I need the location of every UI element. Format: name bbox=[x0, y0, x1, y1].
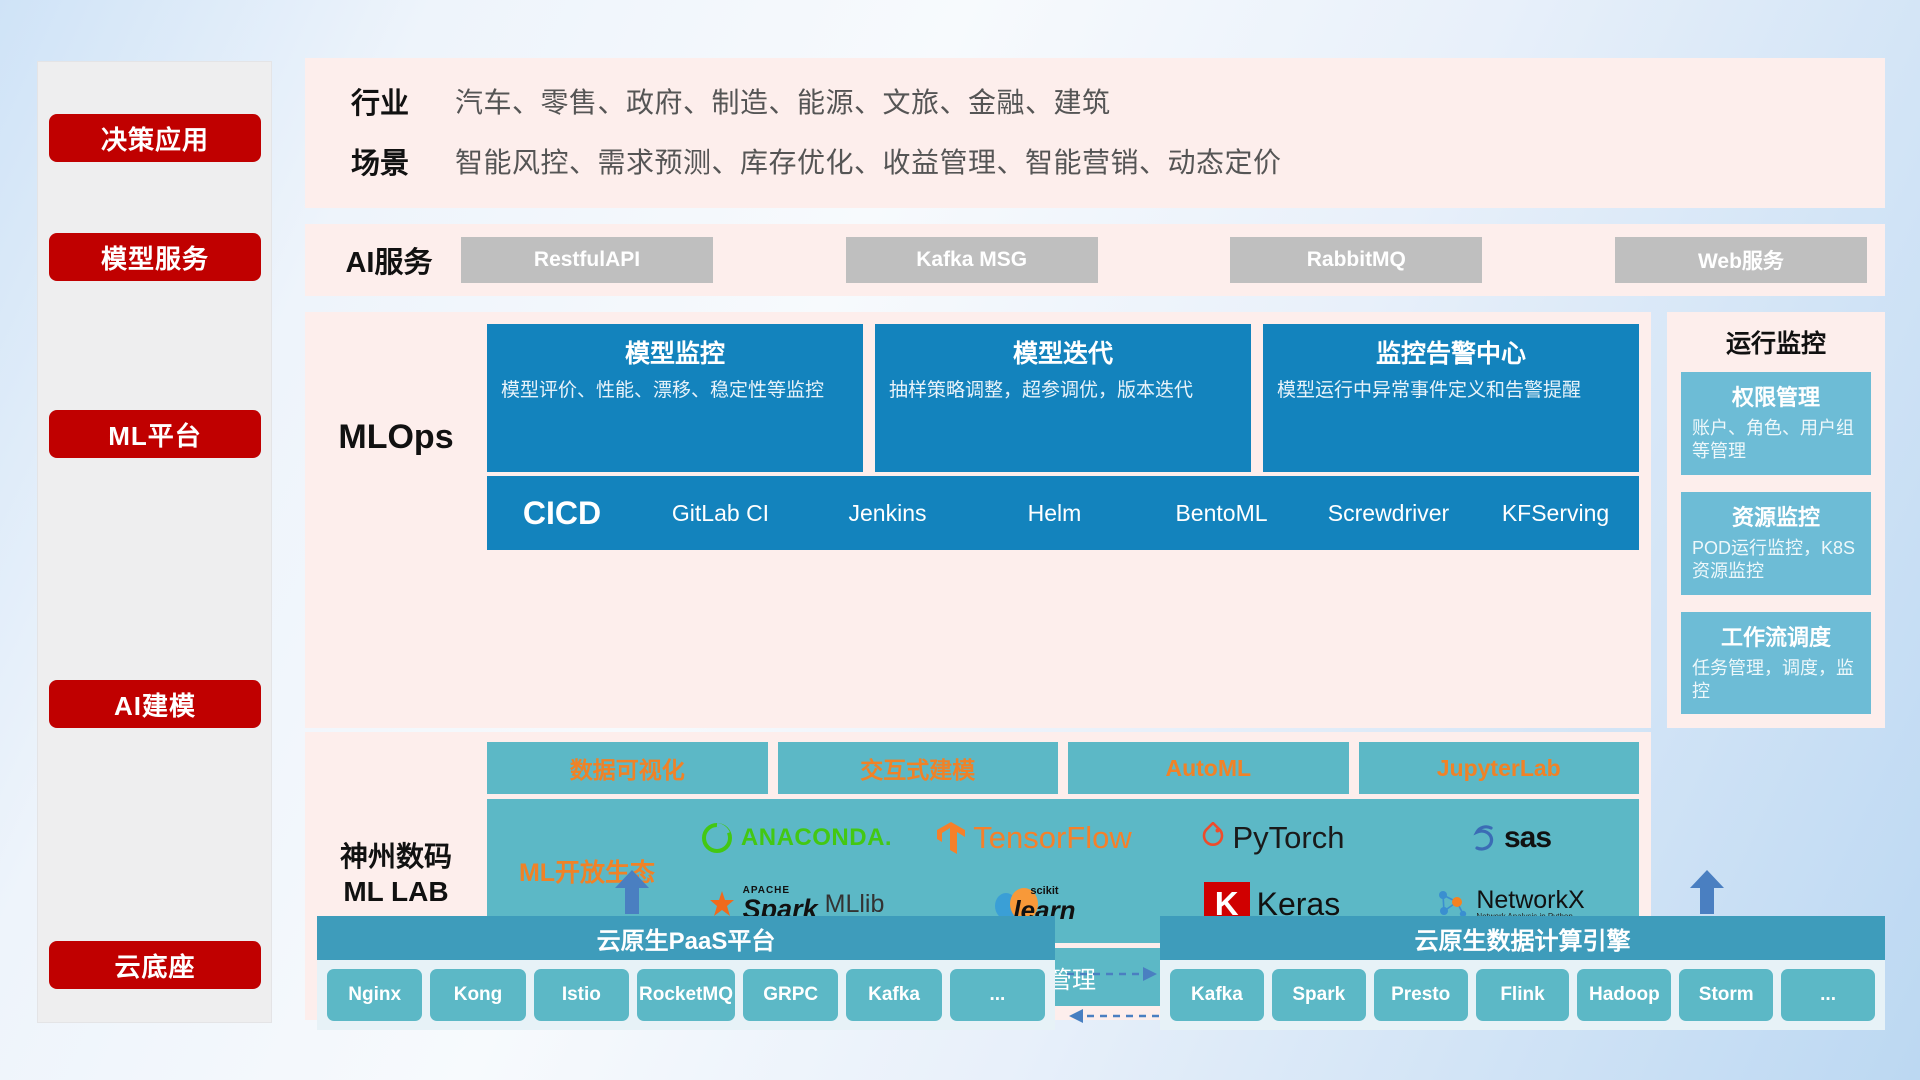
logo-tensorflow-label: TensorFlow bbox=[973, 820, 1132, 856]
monitoring-card-permissions[interactable]: 权限管理 账户、角色、用户组等管理 bbox=[1681, 372, 1871, 475]
mlops-label: MLOps bbox=[305, 324, 487, 550]
cicd-title: CICD bbox=[487, 495, 637, 532]
industry-scenario-panel: 行业 汽车、零售、政府、制造、能源、文旅、金融、建筑 场景 智能风控、需求预测、… bbox=[305, 58, 1885, 208]
mlops-card-desc: 模型评价、性能、漂移、稳定性等监控 bbox=[501, 378, 849, 404]
mlops-card-title: 模型迭代 bbox=[889, 334, 1237, 370]
logo-anaconda: ANACONDA. bbox=[677, 805, 915, 871]
cicd-item-helm[interactable]: Helm bbox=[971, 499, 1138, 528]
diagram-root: 决策应用 模型服务 ML平台 AI建模 云底座 行业 汽车、零售、政府、制造、能… bbox=[0, 0, 1920, 1080]
paas-chip-kong[interactable]: Kong bbox=[430, 969, 525, 1021]
ai-chip-rabbitmq[interactable]: RabbitMQ bbox=[1230, 237, 1482, 283]
ai-service-chip-list: RestfulAPI Kafka MSG RabbitMQ Web服务 bbox=[455, 237, 1867, 283]
lab-tool-data-visualization[interactable]: 数据可视化 bbox=[487, 742, 768, 794]
paas-platform-block: 云原生PaaS平台 Nginx Kong Istio RocketMQ GRPC… bbox=[317, 916, 1055, 1030]
mlops-panel: MLOps 模型监控 模型评价、性能、漂移、稳定性等监控 模型迭代 抽样策略调整… bbox=[305, 312, 1651, 728]
panel-divider-2 bbox=[305, 296, 1885, 312]
pytorch-icon bbox=[1200, 822, 1226, 854]
lab-tool-list: 数据可视化 交互式建模 AutoML JupyterLab bbox=[487, 742, 1639, 794]
logo-sas-label: sas bbox=[1504, 821, 1551, 855]
lab-tool-automl[interactable]: AutoML bbox=[1068, 742, 1349, 794]
ai-service-panel: AI服务 RestfulAPI Kafka MSG RabbitMQ Web服务 bbox=[305, 224, 1885, 296]
mlops-card-desc: 抽样策略调整，超参调优，版本迭代 bbox=[889, 378, 1237, 404]
paas-chip-list: Nginx Kong Istio RocketMQ GRPC Kafka ... bbox=[317, 960, 1055, 1030]
ai-service-label: AI服务 bbox=[323, 239, 455, 281]
monitoring-card-desc: POD运行监控，K8S资源监控 bbox=[1692, 537, 1860, 584]
data-chip-presto[interactable]: Presto bbox=[1374, 969, 1468, 1021]
logo-tensorflow: TensorFlow bbox=[915, 805, 1153, 871]
bidirectional-link-icon bbox=[1065, 962, 1161, 1028]
rail-item-ml-platform[interactable]: ML平台 bbox=[49, 410, 261, 458]
paas-platform-title: 云原生PaaS平台 bbox=[317, 916, 1055, 960]
monitoring-card-title: 工作流调度 bbox=[1692, 620, 1860, 652]
cicd-item-jenkins[interactable]: Jenkins bbox=[804, 499, 971, 528]
data-chip-hadoop[interactable]: Hadoop bbox=[1577, 969, 1671, 1021]
ai-chip-restfulapi[interactable]: RestfulAPI bbox=[461, 237, 713, 283]
data-chip-more[interactable]: ... bbox=[1781, 969, 1875, 1021]
monitoring-card-desc: 账户、角色、用户组等管理 bbox=[1692, 417, 1860, 464]
up-arrow-data-engine-icon bbox=[1690, 870, 1724, 914]
paas-chip-rocketmq[interactable]: RocketMQ bbox=[637, 969, 735, 1021]
data-chip-storm[interactable]: Storm bbox=[1679, 969, 1773, 1021]
mlops-card-model-monitoring[interactable]: 模型监控 模型评价、性能、漂移、稳定性等监控 bbox=[487, 324, 863, 472]
rail-item-decision-app[interactable]: 决策应用 bbox=[49, 114, 261, 162]
scenario-label: 场景 bbox=[305, 140, 455, 182]
rail-item-model-service[interactable]: 模型服务 bbox=[49, 233, 261, 281]
rail-item-cloud-base[interactable]: 云底座 bbox=[49, 941, 261, 989]
ai-chip-web-service[interactable]: Web服务 bbox=[1615, 237, 1867, 283]
rail-item-ai-modeling[interactable]: AI建模 bbox=[49, 680, 261, 728]
anaconda-icon bbox=[700, 821, 734, 855]
cicd-bar: CICD GitLab CI Jenkins Helm BentoML Scre… bbox=[487, 476, 1639, 550]
cicd-item-gitlab-ci[interactable]: GitLab CI bbox=[637, 499, 804, 528]
cicd-item-kfserving[interactable]: KFServing bbox=[1472, 499, 1639, 528]
cicd-item-bentoml[interactable]: BentoML bbox=[1138, 499, 1305, 528]
data-engine-title: 云原生数据计算引擎 bbox=[1160, 916, 1885, 960]
mlops-card-title: 监控告警中心 bbox=[1277, 334, 1625, 370]
logo-anaconda-label: ANACONDA. bbox=[741, 824, 892, 852]
left-rail: 决策应用 模型服务 ML平台 AI建模 云底座 bbox=[38, 62, 271, 1022]
logo-pytorch-label: PyTorch bbox=[1233, 820, 1345, 856]
cloud-base-zone: 云原生PaaS平台 Nginx Kong Istio RocketMQ GRPC… bbox=[305, 880, 1885, 1045]
mlops-band: MLOps 模型监控 模型评价、性能、漂移、稳定性等监控 模型迭代 抽样策略调整… bbox=[305, 312, 1885, 728]
mlops-card-alert-center[interactable]: 监控告警中心 模型运行中异常事件定义和告警提醒 bbox=[1263, 324, 1639, 472]
industry-row: 行业 汽车、零售、政府、制造、能源、文旅、金融、建筑 bbox=[305, 80, 1885, 122]
data-engine-block: 云原生数据计算引擎 Kafka Spark Presto Flink Hadoo… bbox=[1160, 916, 1885, 1030]
monitoring-rail: 运行监控 权限管理 账户、角色、用户组等管理 资源监控 POD运行监控，K8S资… bbox=[1667, 312, 1885, 728]
monitoring-card-workflow[interactable]: 工作流调度 任务管理，调度，监控 bbox=[1681, 612, 1871, 715]
monitoring-title: 运行监控 bbox=[1681, 324, 1871, 360]
data-chip-kafka[interactable]: Kafka bbox=[1170, 969, 1264, 1021]
cicd-item-list: GitLab CI Jenkins Helm BentoML Screwdriv… bbox=[637, 499, 1639, 528]
paas-chip-more[interactable]: ... bbox=[950, 969, 1045, 1021]
paas-chip-istio[interactable]: Istio bbox=[534, 969, 629, 1021]
data-engine-chip-list: Kafka Spark Presto Flink Hadoop Storm ..… bbox=[1160, 960, 1885, 1030]
monitoring-card-desc: 任务管理，调度，监控 bbox=[1692, 657, 1860, 704]
ai-chip-kafka-msg[interactable]: Kafka MSG bbox=[846, 237, 1098, 283]
monitoring-card-resources[interactable]: 资源监控 POD运行监控，K8S资源监控 bbox=[1681, 492, 1871, 595]
logo-sas: sas bbox=[1391, 805, 1629, 871]
logo-pytorch: PyTorch bbox=[1153, 805, 1391, 871]
monitoring-card-title: 资源监控 bbox=[1692, 500, 1860, 532]
lab-tool-jupyterlab[interactable]: JupyterLab bbox=[1359, 742, 1640, 794]
paas-chip-nginx[interactable]: Nginx bbox=[327, 969, 422, 1021]
industry-values: 汽车、零售、政府、制造、能源、文旅、金融、建筑 bbox=[455, 81, 1111, 121]
panel-divider-1 bbox=[305, 208, 1885, 224]
mlops-card-list: 模型监控 模型评价、性能、漂移、稳定性等监控 模型迭代 抽样策略调整，超参调优，… bbox=[487, 324, 1639, 472]
data-chip-flink[interactable]: Flink bbox=[1476, 969, 1570, 1021]
ml-lab-label-line1: 神州数码 bbox=[340, 841, 452, 872]
scenario-row: 场景 智能风控、需求预测、库存优化、收益管理、智能营销、动态定价 bbox=[305, 140, 1885, 182]
lab-tool-interactive-modeling[interactable]: 交互式建模 bbox=[778, 742, 1059, 794]
paas-chip-kafka[interactable]: Kafka bbox=[846, 969, 941, 1021]
mlops-card-title: 模型监控 bbox=[501, 334, 849, 370]
cicd-item-screwdriver[interactable]: Screwdriver bbox=[1305, 499, 1472, 528]
mlops-card-desc: 模型运行中异常事件定义和告警提醒 bbox=[1277, 378, 1625, 404]
industry-label: 行业 bbox=[305, 80, 455, 122]
scenario-values: 智能风控、需求预测、库存优化、收益管理、智能营销、动态定价 bbox=[455, 141, 1282, 181]
sas-icon bbox=[1469, 823, 1497, 853]
paas-chip-grpc[interactable]: GRPC bbox=[743, 969, 838, 1021]
data-chip-spark[interactable]: Spark bbox=[1272, 969, 1366, 1021]
main-column: 行业 汽车、零售、政府、制造、能源、文旅、金融、建筑 场景 智能风控、需求预测、… bbox=[305, 58, 1885, 1020]
mlops-card-model-iteration[interactable]: 模型迭代 抽样策略调整，超参调优，版本迭代 bbox=[875, 324, 1251, 472]
monitoring-card-title: 权限管理 bbox=[1692, 380, 1860, 412]
tensorflow-icon bbox=[936, 820, 966, 856]
up-arrow-paas-icon bbox=[615, 870, 649, 914]
